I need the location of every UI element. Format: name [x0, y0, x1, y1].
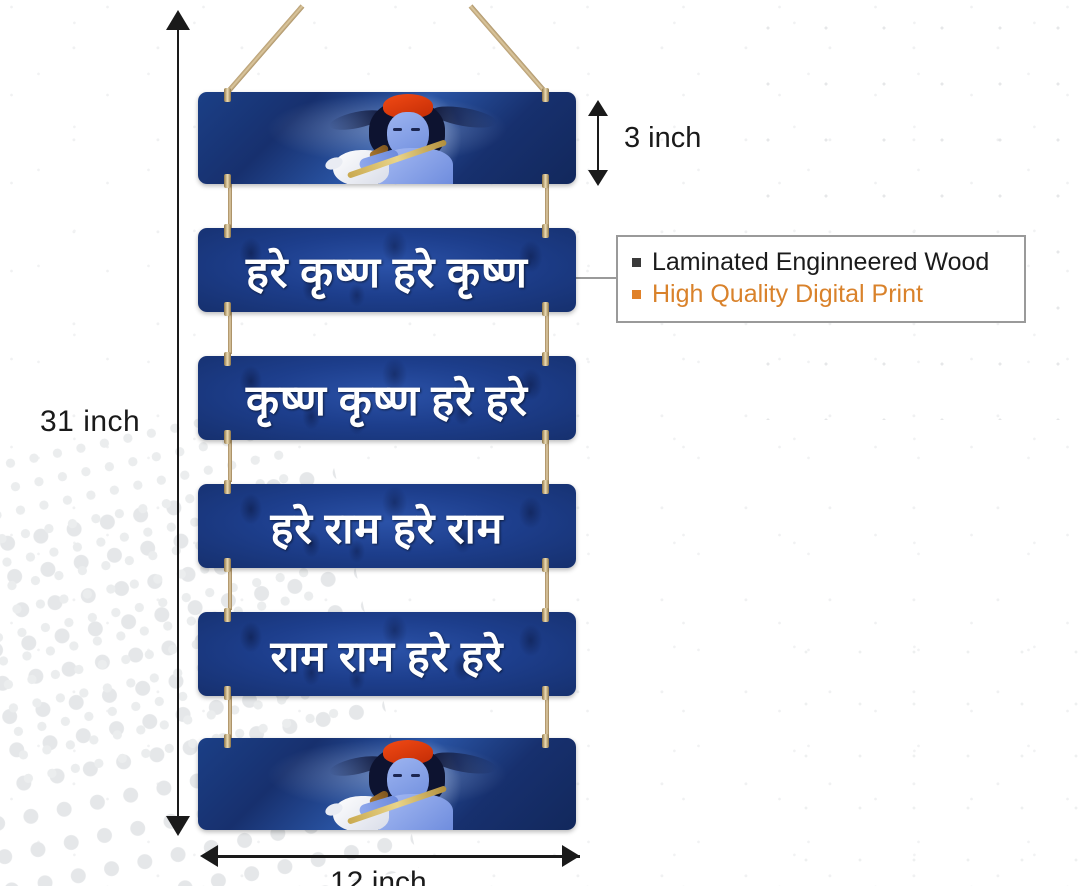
callout-leader-line: [576, 277, 618, 279]
plaque-peg: [542, 558, 549, 572]
plaque-peg: [224, 224, 231, 238]
features-callout-box: Laminated Enginneered Wood High Quality …: [616, 235, 1026, 323]
plaque-peg: [224, 430, 231, 444]
plaque-peg: [542, 174, 549, 188]
hanger-rope-left: [219, 4, 305, 102]
background-dots-bottom-right: [779, 626, 1079, 886]
width-dimension-line: [210, 855, 580, 858]
plaque-peg: [542, 224, 549, 238]
plaque-peg: [224, 734, 231, 748]
mantra-text: कृष्ण कृष्ण हरे हरे: [246, 369, 528, 428]
height-dimension-line: [177, 14, 179, 834]
plaque-peg: [542, 430, 549, 444]
plaque-image-bottom[interactable]: [198, 738, 576, 830]
plaque-peg: [224, 88, 231, 102]
plaque-peg: [542, 480, 549, 494]
feature-row-material: Laminated Enginneered Wood: [632, 246, 1010, 278]
plaque-peg: [224, 686, 231, 700]
plaque-peg: [224, 352, 231, 366]
mantra-text: हरे राम हरे राम: [271, 497, 504, 556]
height-arrow-down-icon: [166, 816, 190, 836]
plaque-peg: [224, 480, 231, 494]
plaque-mantra-2[interactable]: कृष्ण कृष्ण हरे हरे: [198, 356, 576, 440]
plaque-image-top[interactable]: [198, 92, 576, 184]
plaque-peg: [542, 88, 549, 102]
plaque-peg: [542, 352, 549, 366]
plaque-peg: [542, 686, 549, 700]
plaque-mantra-1[interactable]: हरे कृष्ण हरे कृष्ण: [198, 228, 576, 312]
width-arrow-right-icon: [562, 845, 580, 867]
bullet-square-icon: [632, 290, 641, 299]
plaque-peg: [542, 734, 549, 748]
plaque-mantra-4[interactable]: राम राम हरे हरे: [198, 612, 576, 696]
feature-row-print: High Quality Digital Print: [632, 278, 1010, 310]
krishna-illustration-bottom: [323, 738, 523, 830]
plaque-peg: [542, 608, 549, 622]
mantra-text: राम राम हरे हरे: [271, 625, 504, 684]
plaque-peg: [542, 302, 549, 316]
plaque-peg: [224, 608, 231, 622]
width-dimension-label: 12 inch: [330, 866, 427, 886]
plaque-height-arrow-down-icon: [588, 170, 608, 186]
plaque-peg: [224, 174, 231, 188]
plaque-mantra-3[interactable]: हरे राम हरे राम: [198, 484, 576, 568]
feature-label-material: Laminated Enginneered Wood: [652, 246, 989, 278]
product-infographic: 31 inch: [0, 0, 1079, 886]
plaque-peg: [224, 558, 231, 572]
bullet-square-icon: [632, 258, 641, 267]
height-dimension-label: 31 inch: [40, 405, 140, 439]
background-halftone-bottom-left-secondary: [0, 395, 341, 786]
krishna-illustration-top: [323, 92, 523, 184]
plaque-height-dimension-line: [597, 112, 599, 174]
feature-label-print: High Quality Digital Print: [652, 278, 923, 310]
background-dots-top-right: [739, 0, 1079, 420]
hanger-rope-right: [469, 4, 555, 102]
mantra-text: हरे कृष्ण हरे कृष्ण: [246, 241, 528, 300]
plaque-height-label: 3 inch: [624, 122, 701, 155]
plaque-peg: [224, 302, 231, 316]
